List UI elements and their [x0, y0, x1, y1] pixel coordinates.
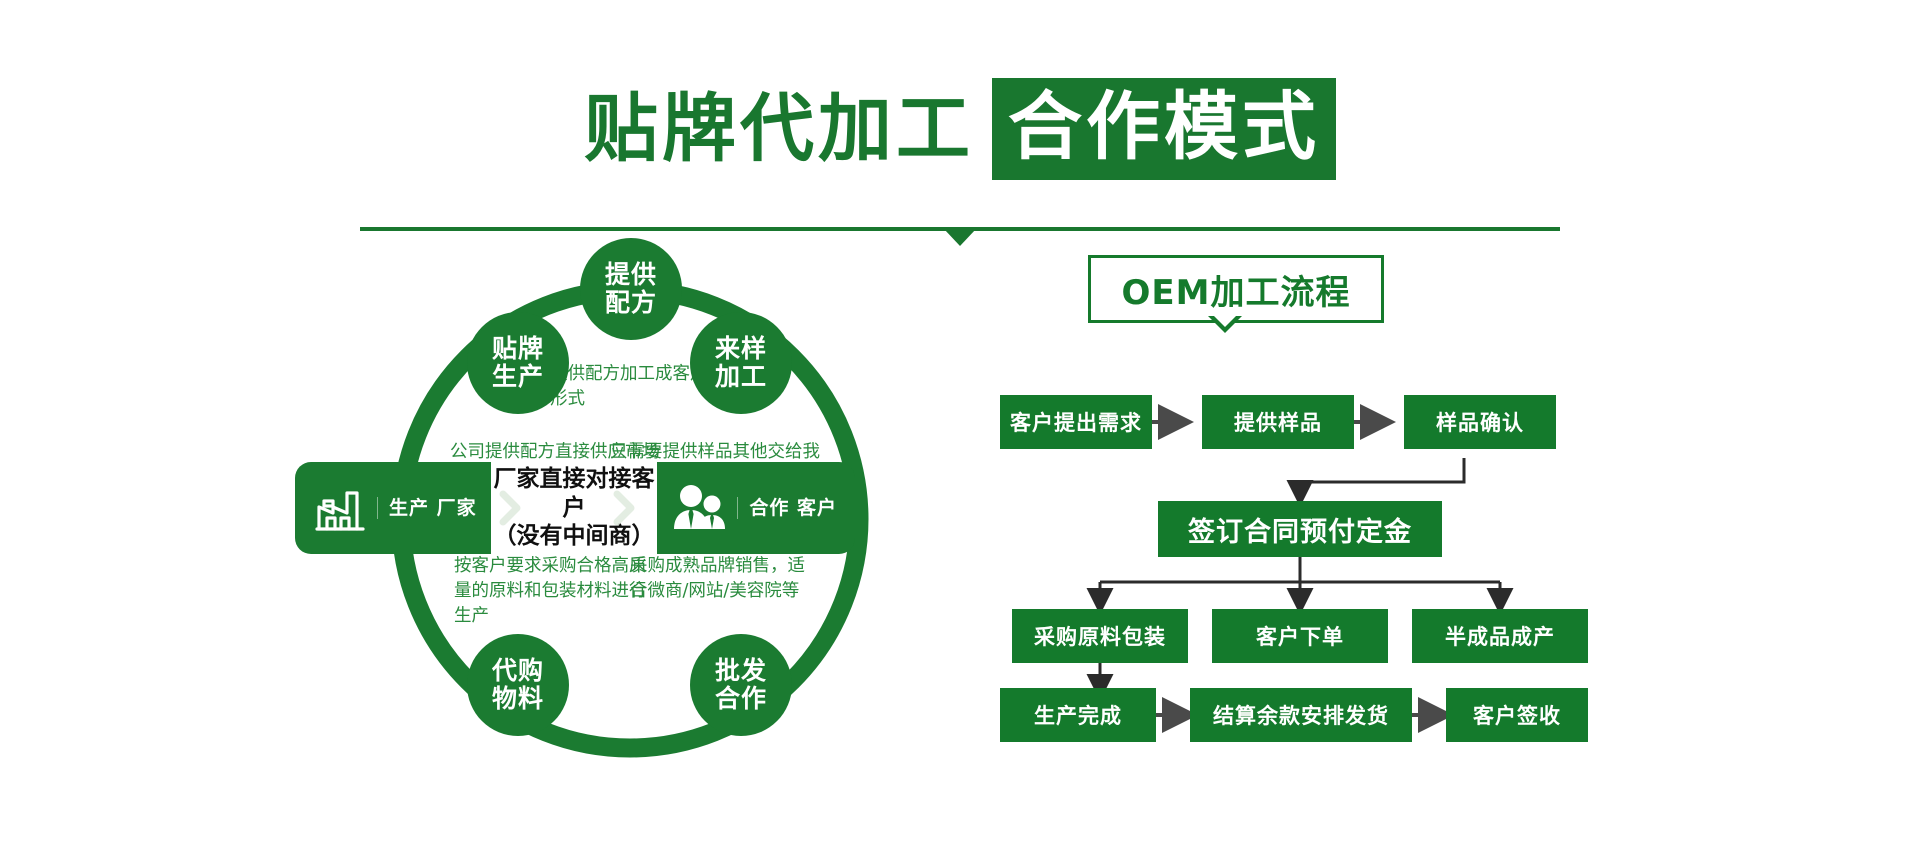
cycle-node-line2: 合作 [715, 685, 767, 713]
manufacturer-side: 生产 厂家 [295, 462, 491, 554]
cycle-node-line2: 物料 [492, 685, 544, 713]
manufacturer-label-line1: 生产 [389, 497, 429, 519]
cycle-node-oem-production[interactable]: 贴牌 生产 [467, 312, 569, 414]
cycle-node-line1: 来样 [715, 335, 767, 363]
cycle-node-supply-formula[interactable]: 提供 配方 [580, 238, 682, 340]
flow-box-purchase-materials[interactable]: 采购原料包装 [1012, 609, 1188, 663]
manufacturer-label-line2: 厂家 [437, 497, 477, 519]
manufacturer-label: 生产 厂家 [377, 497, 477, 519]
oem-flowchart: OEM加工流程 [1000, 255, 1600, 815]
flow-box-label: 结算余款安排发货 [1213, 700, 1389, 730]
chevron-right-icon [497, 490, 537, 526]
flow-box-label: 提供样品 [1234, 407, 1322, 437]
direct-connection-message: 厂家直接对接客户 （没有中间商） [491, 462, 658, 554]
flow-box-label: 客户签收 [1473, 700, 1561, 730]
flow-box-customer-receipt[interactable]: 客户签收 [1446, 688, 1588, 742]
flow-box-label: 半成品成产 [1445, 621, 1555, 651]
title-highlight-text: 合作模式 [992, 78, 1336, 180]
cycle-desc-bottom-right: 采购成熟品牌销售，适合微商/网站/美容院等 [630, 554, 820, 604]
cycle-node-material-purchase[interactable]: 代购 物料 [467, 634, 569, 736]
flow-box-customer-order[interactable]: 客户下单 [1212, 609, 1388, 663]
flow-box-customer-request[interactable]: 客户提出需求 [1000, 395, 1152, 449]
flow-box-production-complete[interactable]: 生产完成 [1000, 688, 1156, 742]
flow-box-semi-finished-production[interactable]: 半成品成产 [1412, 609, 1588, 663]
customer-side: 合作 客户 [657, 462, 855, 554]
flow-box-label: 签订合同预付定金 [1188, 510, 1412, 549]
flow-box-label: 样品确认 [1436, 407, 1524, 437]
flow-box-sign-contract-deposit[interactable]: 签订合同预付定金 [1158, 501, 1442, 557]
cycle-node-wholesale-cooperation[interactable]: 批发 合作 [690, 634, 792, 736]
chevron-right-icon [611, 490, 651, 526]
cycle-node-line2: 配方 [605, 289, 657, 317]
cycle-node-line2: 生产 [492, 363, 544, 391]
factory-icon [313, 483, 367, 533]
cooperation-cycle-diagram: 提供 配方 贴牌 生产 来样 加工 代购 物料 批发 合作 提供配方加工成客户要… [330, 250, 950, 790]
page-title: 贴牌代加工 合作模式 [0, 78, 1920, 180]
flow-box-label: 采购原料包装 [1034, 621, 1166, 651]
infographic-page: 贴牌代加工 合作模式 提供 配方 贴牌 生产 来样 加工 代购 物料 批发 合作… [0, 0, 1920, 857]
customer-label: 合作 客户 [737, 497, 837, 519]
cycle-node-line1: 代购 [492, 657, 544, 685]
flow-box-settle-balance-ship[interactable]: 结算余款安排发货 [1190, 688, 1412, 742]
flow-box-sample-confirm[interactable]: 样品确认 [1404, 395, 1556, 449]
cycle-node-line2: 加工 [715, 363, 767, 391]
cycle-node-line1: 批发 [715, 657, 767, 685]
flow-box-provide-sample[interactable]: 提供样品 [1202, 395, 1354, 449]
customer-label-line2: 客户 [797, 497, 837, 519]
flow-box-label: 生产完成 [1034, 700, 1122, 730]
customers-icon [671, 483, 727, 533]
flow-box-label: 客户下单 [1256, 621, 1344, 651]
cycle-node-line1: 贴牌 [492, 335, 544, 363]
flow-box-label: 客户提出需求 [1010, 407, 1142, 437]
header-divider-notch-icon [944, 229, 976, 246]
cycle-desc-bottom-left: 按客户要求采购合格高质量的原料和包装材料进行生产 [454, 554, 654, 629]
cycle-node-line1: 提供 [605, 261, 657, 289]
customer-label-line1: 合作 [749, 497, 789, 519]
direct-connection-bar: 生产 厂家 厂家直接对接客户 （没有中间商） [295, 462, 855, 554]
cycle-node-sample-processing[interactable]: 来样 加工 [690, 312, 792, 414]
direct-connection-line2: （没有中间商） [491, 522, 658, 551]
title-plain-text: 贴牌代加工 [584, 92, 974, 166]
